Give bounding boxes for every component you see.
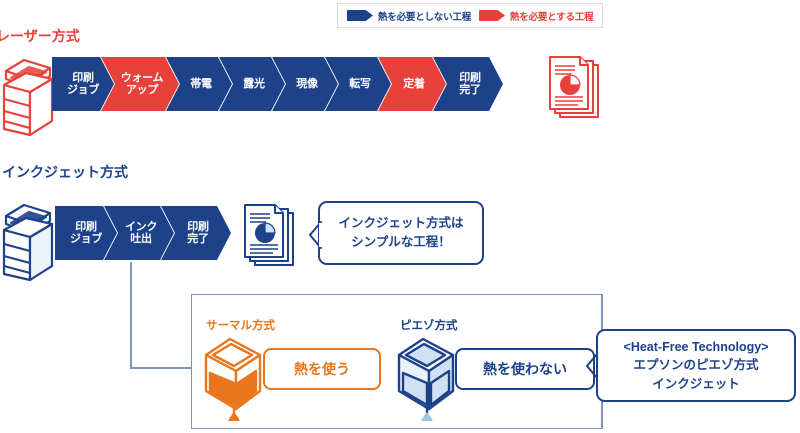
inkjet-callout-bubble: インクジェット方式は シンプルな工程！	[318, 201, 484, 265]
inkjet-step-print-job[interactable]: 印刷 ジョブ	[55, 206, 117, 260]
legend-label-no-heat: 熱を必要としない工程	[378, 9, 471, 23]
piezo-heat-label: 熱を使わない	[455, 348, 595, 390]
legend-item-heat: 熱を必要とする工程	[479, 9, 593, 23]
thermal-method-title: サーマル方式	[206, 317, 275, 333]
heat-free-line2: エプソンのピエゾ方式	[633, 356, 758, 374]
arrow-chip-navy-icon	[347, 10, 373, 21]
inkjet-printed-documents-icon	[243, 203, 297, 276]
heat-free-technology-panel: <Heat-Free Technology> エプソンのピエゾ方式 インクジェッ…	[596, 329, 796, 402]
inkjet-callout-line2: シンプルな工程！	[351, 233, 451, 252]
bubble-tail-icon	[308, 221, 320, 247]
infographic-canvas: 熱を必要としない工程 熱を必要とする工程 レーザー方式	[0, 0, 800, 433]
heat-free-line1: <Heat-Free Technology>	[624, 338, 769, 356]
laser-step-print-job[interactable]: 印刷 ジョブ	[52, 57, 114, 111]
piezo-method-title: ピエゾ方式	[400, 317, 458, 333]
connector-vertical	[130, 262, 132, 368]
laser-printed-documents-icon	[548, 55, 602, 128]
connector-horizontal	[130, 367, 192, 369]
inkjet-section-title: インクジェット方式	[2, 162, 128, 182]
laser-process-flow: 印刷 ジョブ ウォーム アップ 帯電 露光 現像 転写 定着 印刷 完了	[52, 57, 490, 111]
thermal-ink-cartridge-icon	[200, 333, 272, 426]
legend: 熱を必要としない工程 熱を必要とする工程	[337, 3, 603, 28]
thermal-heat-label: 熱を使う	[263, 348, 381, 390]
arrow-chip-red-icon	[479, 10, 505, 21]
inkjet-process-flow: 印刷 ジョブ インク 吐出 印刷 完了	[55, 206, 218, 260]
legend-label-heat: 熱を必要とする工程	[510, 9, 593, 23]
heat-free-line3: インクジェット	[652, 375, 740, 393]
inkjet-callout-line1: インクジェット方式は	[338, 214, 463, 233]
laser-section-title: レーザー方式	[0, 26, 80, 46]
legend-item-no-heat: 熱を必要としない工程	[347, 9, 471, 23]
